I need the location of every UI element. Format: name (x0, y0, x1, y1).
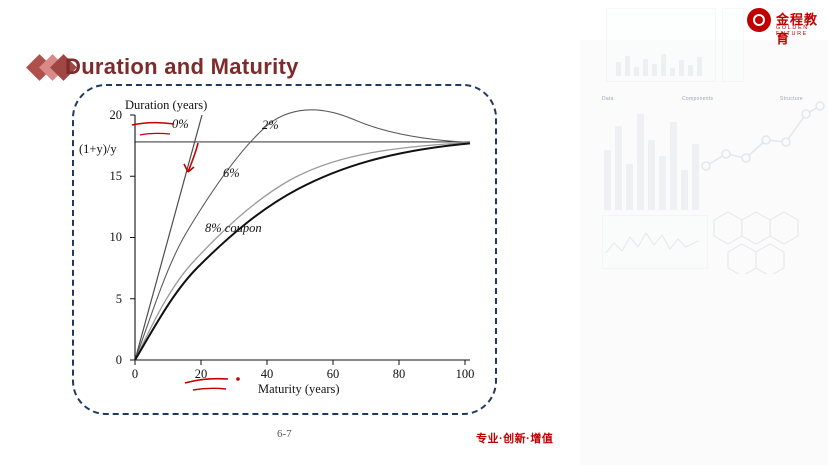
decor-bars-2 (600, 100, 708, 210)
brand-logo-icon (747, 8, 771, 32)
brand-name-en: GOLDEN FUTURE (776, 25, 828, 37)
decor-line-chart (700, 96, 825, 178)
decor-hexagons (710, 208, 820, 274)
footer-slogan: 专业·创新·增值 (476, 430, 553, 446)
decor-sparkline (606, 225, 702, 261)
ink-annotations (0, 0, 580, 465)
slide-screenshot: Duration and Maturity (0, 0, 828, 465)
decor-bars-1 (614, 52, 706, 76)
slide-content: Duration and Maturity (0, 0, 580, 465)
page-number: 6-7 (277, 428, 292, 440)
decor-label-1: Data (602, 96, 614, 102)
right-panel: 金程教育 GOLDEN FUTURE (580, 0, 828, 465)
decor-panel-2 (722, 8, 744, 82)
